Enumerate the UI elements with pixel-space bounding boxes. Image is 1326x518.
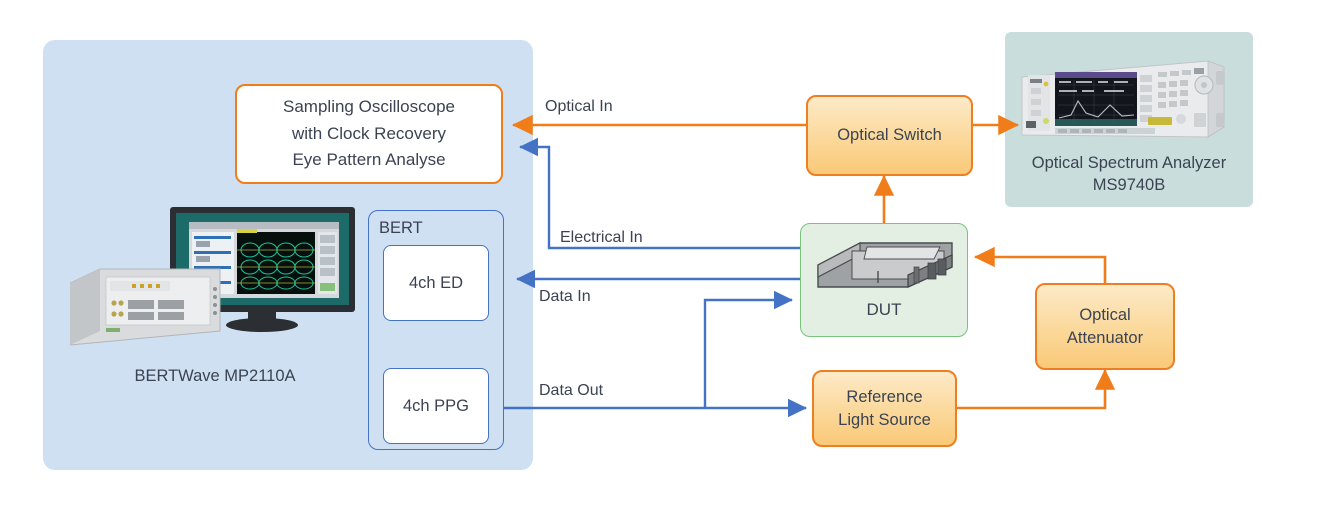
dut-module-photo <box>812 233 958 295</box>
bert-module-label: 4ch PPG <box>403 397 469 416</box>
attenuator-line-1: Optical <box>1079 304 1130 326</box>
scope-line-3: Eye Pattern Analyse <box>292 147 445 173</box>
label-data-out: Data Out <box>539 382 603 400</box>
optical-switch-label: Optical Switch <box>837 124 942 146</box>
label-electrical-in: Electrical In <box>560 229 643 247</box>
wire-ref-to-attenuator <box>957 370 1105 408</box>
bert-module-label: 4ch ED <box>409 274 463 293</box>
diagram-canvas: Sampling Oscilloscope with Clock Recover… <box>0 0 1326 518</box>
sampling-oscilloscope-block[interactable]: Sampling Oscilloscope with Clock Recover… <box>235 84 503 184</box>
bert-title: BERT <box>379 219 423 238</box>
bert-module-4ch-ed[interactable]: 4ch ED <box>383 245 489 321</box>
ref-light-line-2: Light Source <box>838 409 931 431</box>
scope-line-1: Sampling Oscilloscope <box>283 94 455 120</box>
dut-label: DUT <box>800 300 968 320</box>
label-optical-in: Optical In <box>545 98 613 116</box>
bertwave-caption: BERTWave MP2110A <box>100 365 330 387</box>
osa-caption: Optical Spectrum Analyzer MS9740B <box>1005 152 1253 197</box>
bertwave-instrument-photo <box>70 205 355 350</box>
bert-module-4ch-ppg[interactable]: 4ch PPG <box>383 368 489 444</box>
osa-caption-line-1: Optical Spectrum Analyzer <box>1005 152 1253 174</box>
ref-light-line-1: Reference <box>846 386 922 408</box>
wire-data-out-to-dut <box>705 300 792 408</box>
attenuator-line-2: Attenuator <box>1067 327 1143 349</box>
optical-switch-block[interactable]: Optical Switch <box>806 95 973 176</box>
wire-attenuator-to-dut <box>975 257 1105 283</box>
optical-spectrum-analyzer-photo <box>1018 55 1231 147</box>
reference-light-source-block[interactable]: Reference Light Source <box>812 370 957 447</box>
scope-line-2: with Clock Recovery <box>292 121 446 147</box>
osa-caption-line-2: MS9740B <box>1005 174 1253 196</box>
optical-attenuator-block[interactable]: Optical Attenuator <box>1035 283 1175 370</box>
label-data-in: Data In <box>539 288 591 306</box>
